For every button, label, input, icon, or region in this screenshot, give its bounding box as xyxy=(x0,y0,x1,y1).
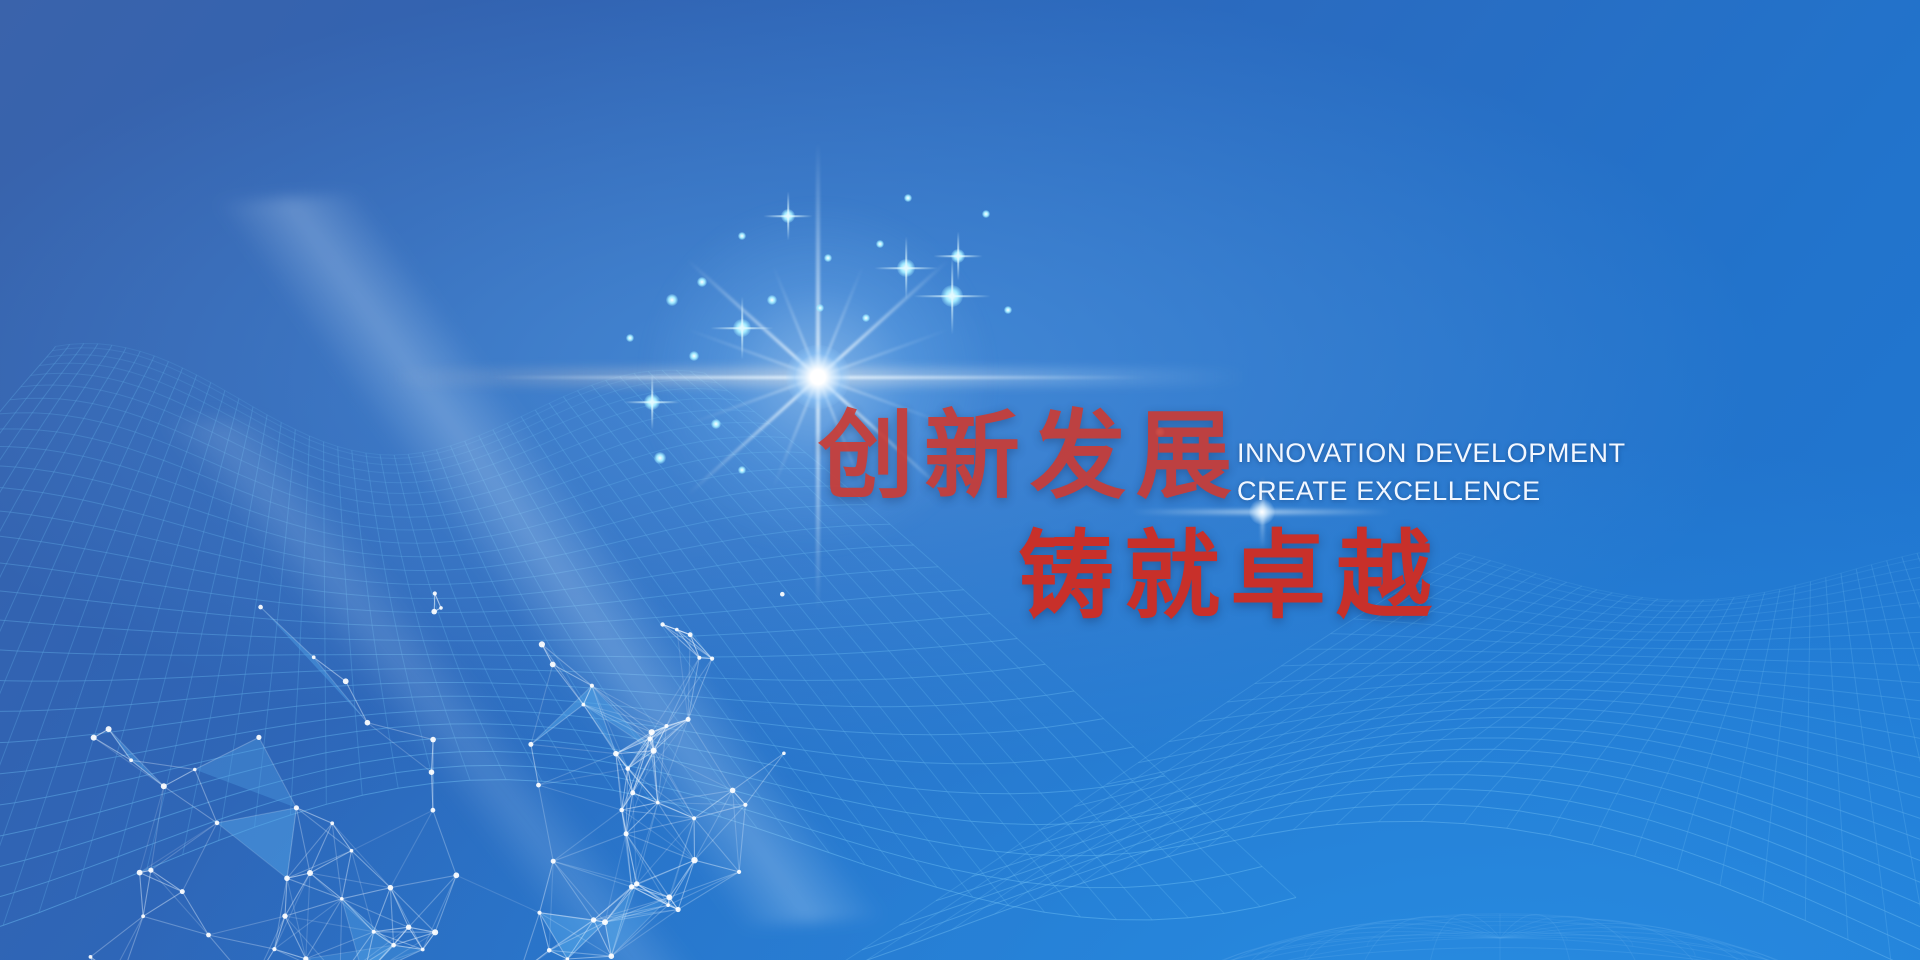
headline-group: 创新发展 铸就卓越 xyxy=(0,0,1920,960)
wireframe-terrain-left xyxy=(0,330,700,850)
wireframe-terrain-right xyxy=(1080,520,1920,960)
subtitle-english-line-2: CREATE EXCELLENCE xyxy=(1237,472,1626,510)
light-beam-secondary-graphic xyxy=(60,420,780,960)
subtitle-english-line-1: INNOVATION DEVELOPMENT xyxy=(1237,434,1626,472)
polygon-network-graphic xyxy=(90,590,790,960)
banner-canvas: 创新发展 铸就卓越 INNOVATION DEVELOPMENT CREATE … xyxy=(0,0,1920,960)
headline-chinese-line-2: 铸就卓越 xyxy=(1018,528,1442,624)
subtitle-english-group: INNOVATION DEVELOPMENT CREATE EXCELLENCE xyxy=(1237,434,1626,510)
light-beam-graphic xyxy=(144,154,955,960)
headline-chinese-line-1: 创新发展 xyxy=(818,408,1242,504)
wireframe-globe xyxy=(1050,590,1920,960)
